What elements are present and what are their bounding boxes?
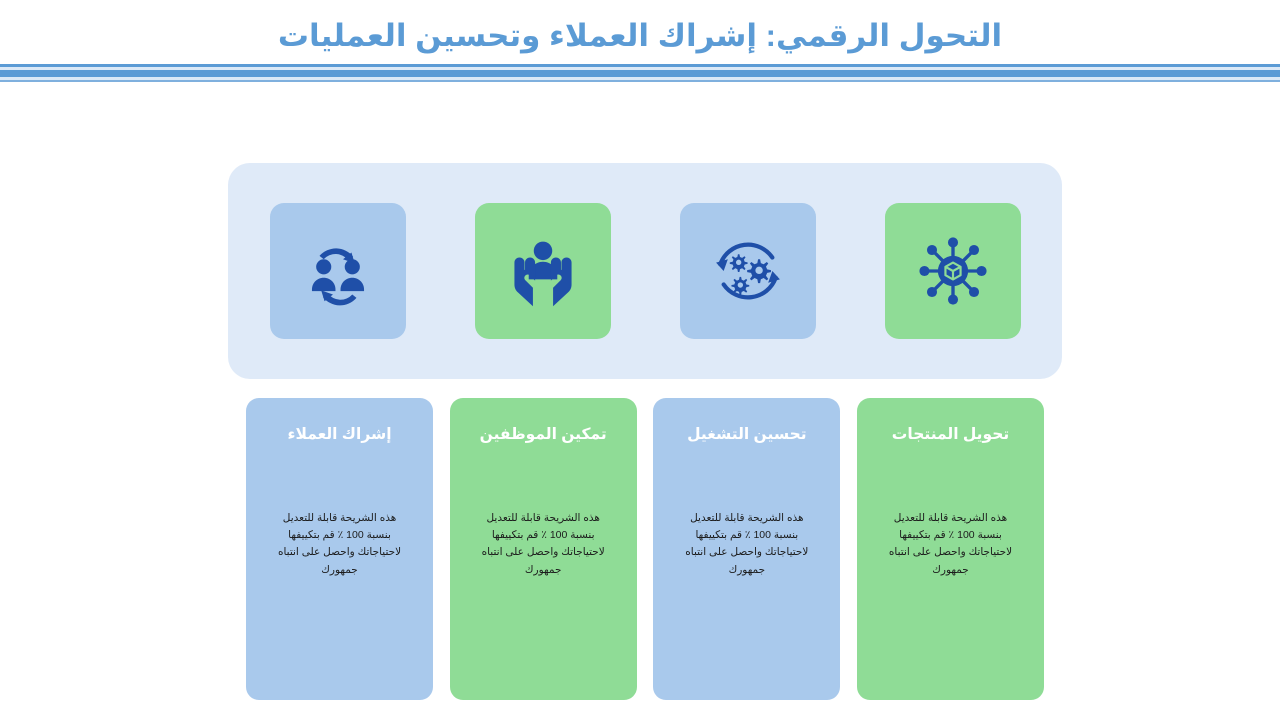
feature-card-employee-empowerment[interactable]: تمكين الموظفين هذه الشريحة قابلة للتعديل… [450, 398, 637, 700]
process-optimization-icon [706, 229, 790, 313]
feature-cards-row: إشراك العملاء هذه الشريحة قابلة للتعديل … [246, 398, 1044, 700]
card-body: هذه الشريحة قابلة للتعديل بنسبة 100 ٪ قم… [681, 510, 813, 579]
icon-tile-customer-engagement[interactable] [270, 203, 406, 339]
customer-engagement-icon [296, 229, 380, 313]
feature-card-customer-engagement[interactable]: إشراك العملاء هذه الشريحة قابلة للتعديل … [246, 398, 433, 700]
card-title: تمكين الموظفين [480, 426, 607, 445]
icon-tile-product-transformation[interactable] [885, 203, 1021, 339]
card-title: تحويل المنتجات [892, 426, 1009, 445]
divider-rule-3 [0, 70, 1280, 77]
card-body: هذه الشريحة قابلة للتعديل بنسبة 100 ٪ قم… [885, 510, 1017, 579]
card-title: تحسين التشغيل [687, 426, 807, 445]
card-body: هذه الشريحة قابلة للتعديل بنسبة 100 ٪ قم… [477, 510, 609, 579]
icon-tile-group [228, 163, 1062, 379]
icon-tile-process-optimization[interactable] [680, 203, 816, 339]
card-title: إشراك العملاء [288, 426, 392, 445]
icon-tile-employee-empowerment[interactable] [475, 203, 611, 339]
feature-card-product-transformation[interactable]: تحويل المنتجات هذه الشريحة قابلة للتعديل… [857, 398, 1044, 700]
card-body: هذه الشريحة قابلة للتعديل بنسبة 100 ٪ قم… [274, 510, 406, 579]
feature-card-process-optimization[interactable]: تحسين التشغيل هذه الشريحة قابلة للتعديل … [653, 398, 840, 700]
title-divider [0, 64, 1280, 82]
product-transformation-icon [911, 229, 995, 313]
divider-rule-5 [0, 80, 1280, 82]
page-title: التحول الرقمي: إشراك العملاء وتحسين العم… [0, 18, 1280, 54]
employee-empowerment-icon [501, 229, 585, 313]
icon-panel [228, 163, 1062, 379]
